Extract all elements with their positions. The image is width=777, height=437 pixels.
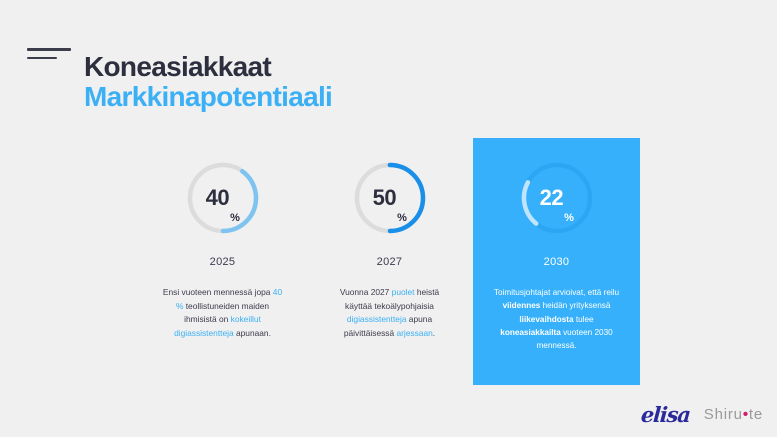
donut-chart-2027: 50 % [352,160,428,236]
shirute-logo: Shiru•te [704,406,763,423]
donut-chart-2030: 22 % [519,160,595,236]
mark-line-bottom [27,57,57,60]
elisa-logo: elisa [640,402,690,427]
donut-percent-sign-2025: % [230,212,239,224]
text-run-normal: apunaan. [234,328,271,338]
text-run-normal: . [433,328,435,338]
metric-body-2027: Vuonna 2027 puolet heistä käyttää tekoäl… [329,286,451,340]
slide-root: Koneasiakkaat Markkinapotentiaali 40 % 2… [0,0,777,437]
donut-number-2030: 22 [540,185,563,211]
shirute-logo-pre: Shiru [704,406,743,423]
metric-body-2030: Toimitusjohtajat arvioivat, että reilu v… [491,286,623,352]
metric-card-2025: 40 % 2025 Ensi vuoteen mennessä jopa 40 … [139,160,306,352]
donut-value-2025: 40 % [185,160,261,236]
donut-value-2030: 22 % [519,160,595,236]
donut-value-2027: 50 % [352,160,428,236]
decorative-lines-mark [27,48,71,59]
donut-number-2027: 50 [373,185,396,211]
metric-year-2030: 2030 [544,256,570,268]
shirute-logo-post: te [749,406,763,423]
metric-card-2027: 50 % 2027 Vuonna 2027 puolet heistä käyt… [306,160,473,352]
page-title: Koneasiakkaat Markkinapotentiaali [84,52,332,111]
page-title-line2: Markkinapotentiaali [84,82,332,112]
metric-body-2025: Ensi vuoteen mennessä jopa 40 % teollist… [162,286,284,340]
text-run-normal: tulee [574,315,594,324]
metric-cards-container: 40 % 2025 Ensi vuoteen mennessä jopa 40 … [0,160,777,352]
metric-card-2030: 22 % 2030 Toimitusjohtajat arvioivat, et… [473,160,640,352]
metric-year-2027: 2027 [377,256,403,268]
donut-chart-2025: 40 % [185,160,261,236]
text-run-highlight: digiassistentteja [347,314,407,324]
metric-year-2025: 2025 [210,256,236,268]
text-run-bold: liikevaihdosta [519,315,573,324]
donut-percent-sign-2027: % [397,212,406,224]
text-run-normal: Vuonna 2027 [340,287,392,297]
text-run-highlight: puolet [392,287,415,297]
page-title-line1: Koneasiakkaat [84,52,332,82]
text-run-bold: viidennes [503,301,541,310]
text-run-normal: Toimitusjohtajat arvioivat, että reilu [494,288,619,297]
donut-percent-sign-2030: % [564,212,573,224]
footer-logos: elisa Shiru•te [641,402,763,427]
text-run-bold: koneasiakkailta [500,328,561,337]
text-run-highlight: arjessaan [396,328,432,338]
donut-number-2025: 40 [206,185,229,211]
text-run-normal: Ensi vuoteen mennessä jopa [163,287,273,297]
text-run-normal: heidän yrityksensä [540,301,610,310]
mark-line-top [27,48,71,51]
